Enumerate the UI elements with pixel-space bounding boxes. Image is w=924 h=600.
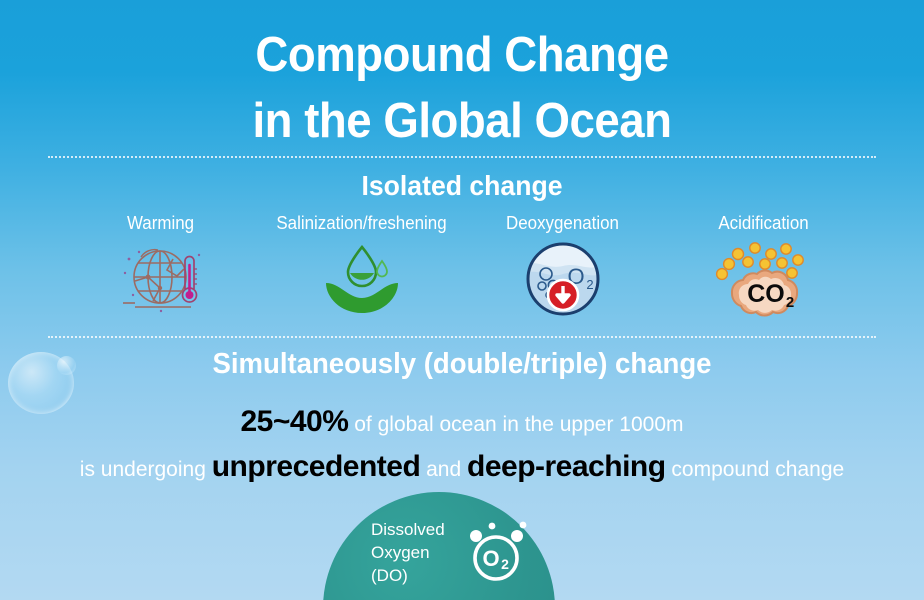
- oxygen-decline-icon: O 2: [462, 240, 663, 318]
- page-title: Compound Change in the Global Ocean: [0, 22, 924, 154]
- divider-top: [48, 156, 876, 158]
- svg-text:CO: CO: [747, 280, 785, 308]
- stat-line-description: is undergoing unprecedented and deep-rea…: [0, 450, 924, 484]
- divider-middle: [48, 336, 876, 338]
- stat-desc-post: compound change: [666, 458, 845, 481]
- stat-desc-mid: and: [420, 458, 467, 481]
- isolated-card-acidification: Acidification: [663, 212, 864, 318]
- isolated-card-salinization: Salinization/freshening: [261, 212, 462, 318]
- do-label-line-3: (DO): [371, 564, 445, 587]
- svg-text:2: 2: [586, 277, 593, 292]
- isolated-card-warming-label: Warming: [66, 212, 255, 234]
- svg-text:2: 2: [785, 294, 793, 311]
- isolated-card-deoxygenation-label: Deoxygenation: [468, 212, 657, 234]
- decorative-bubble-small: [57, 356, 76, 375]
- do-label-line-1: Dissolved: [371, 518, 445, 541]
- globe-thermometer-icon: [60, 240, 261, 318]
- isolated-change-heading: Isolated change: [23, 170, 901, 202]
- dissolved-oxygen-label: Dissolved Oxygen (DO): [371, 518, 445, 587]
- stat-desc-strong-unprecedented: unprecedented: [212, 450, 421, 483]
- isolated-card-acidification-label: Acidification: [669, 212, 858, 234]
- title-line-1: Compound Change: [32, 22, 891, 88]
- isolated-change-row: Warming: [60, 212, 864, 318]
- isolated-card-deoxygenation: Deoxygenation: [462, 212, 663, 318]
- isolated-card-salinization-label: Salinization/freshening: [267, 212, 456, 234]
- simultaneous-change-heading: Simultaneously (double/triple) change: [23, 348, 901, 381]
- isolated-card-warming: Warming: [60, 212, 261, 318]
- stat-desc-pre: is undergoing: [80, 458, 212, 481]
- stat-percentage-rest: of global ocean in the upper 1000m: [348, 413, 683, 436]
- svg-text:2: 2: [501, 556, 509, 572]
- title-line-2: in the Global Ocean: [32, 88, 891, 154]
- svg-text:O: O: [482, 546, 499, 571]
- stat-line-percentage: 25~40% of global ocean in the upper 1000…: [0, 405, 924, 439]
- infographic-poster: Compound Change in the Global Ocean Isol…: [0, 0, 924, 600]
- stat-percentage-value: 25~40%: [240, 405, 348, 438]
- dissolved-oxygen-badge: Dissolved Oxygen (DO) O 2: [323, 492, 555, 600]
- oxygen-molecule-icon: O 2: [463, 518, 533, 593]
- do-label-line-2: Oxygen: [371, 541, 445, 564]
- water-droplet-wave-icon: [261, 240, 462, 318]
- stat-desc-strong-deep-reaching: deep-reaching: [467, 450, 666, 483]
- co2-cloud-icon: CO 2: [663, 240, 864, 318]
